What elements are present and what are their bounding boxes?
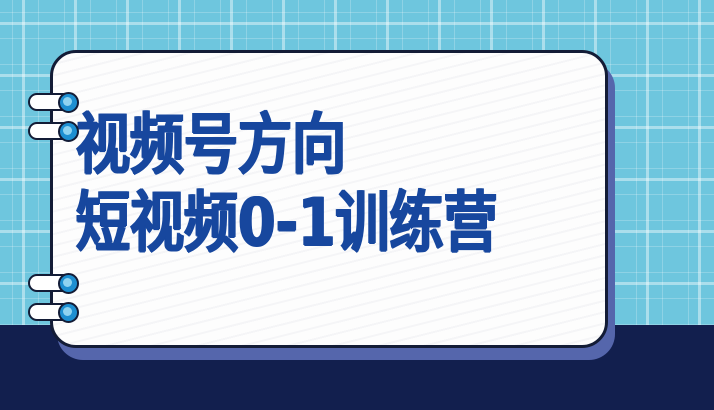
binder-ring-icon-1	[28, 92, 82, 113]
binder-ring-knob	[58, 302, 79, 323]
notebook-card	[50, 50, 608, 348]
binder-ring-icon-2	[28, 121, 82, 142]
binder-ring-knob-highlight	[63, 126, 72, 135]
binder-ring-knob-highlight	[63, 97, 72, 106]
binder-ring-knob-highlight	[63, 307, 72, 316]
binder-ring-knob	[58, 92, 79, 113]
poster-canvas: 视频号方向 短视频0-1训练营	[0, 0, 714, 410]
binder-ring-knob	[58, 273, 79, 294]
binder-ring-knob-highlight	[63, 278, 72, 287]
binder-ring-knob	[58, 121, 79, 142]
binder-ring-icon-4	[28, 302, 82, 323]
binder-ring-icon-3	[28, 273, 82, 294]
